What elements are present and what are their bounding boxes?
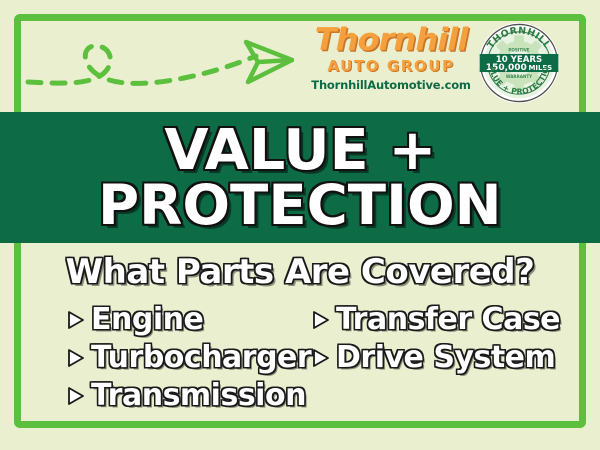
poster-canvas: Thornhill AUTO GROUP ThornhillAutomotive…	[0, 0, 600, 450]
dashed-arrow-icon	[24, 24, 294, 102]
list-item-label: Transmission	[91, 379, 306, 413]
coverage-column-left: Engine Turbocharger Transmission	[66, 301, 311, 415]
logo-subtitle: AUTO GROUP	[310, 58, 472, 75]
list-item-label: Transfer Case	[336, 303, 560, 337]
list-item-label: Drive System	[336, 341, 555, 375]
coverage-heading: What Parts Are Covered?	[0, 253, 600, 291]
seal-small-bottom-text: WARRANTY	[506, 74, 532, 79]
triangle-bullet-icon	[311, 347, 331, 369]
triangle-bullet-icon	[311, 309, 331, 331]
coverage-column-right: Transfer Case Drive System	[311, 301, 556, 415]
list-item-label: Turbocharger	[91, 341, 311, 375]
list-item: Transmission	[66, 377, 311, 415]
banner-line-2: PROTECTION	[98, 176, 502, 234]
coverage-columns: Engine Turbocharger Transmission	[0, 301, 600, 415]
warranty-seal-badge: THORNHILL POSITIVE 10 YEARS 150,000MILES…	[478, 22, 560, 104]
list-item-label: Engine	[91, 303, 203, 337]
banner-band: VALUE + PROTECTION	[0, 112, 600, 243]
list-item: Engine	[66, 301, 311, 339]
list-item: Transfer Case	[311, 301, 556, 339]
seal-small-top-text: POSITIVE	[508, 48, 529, 53]
banner-line-1: VALUE +	[164, 122, 436, 180]
triangle-bullet-icon	[66, 385, 86, 407]
logo-wordmark: Thornhill	[307, 24, 475, 56]
thornhill-logo[interactable]: Thornhill AUTO GROUP ThornhillAutomotive…	[310, 24, 472, 104]
triangle-bullet-icon	[66, 309, 86, 331]
logo-website-url: ThornhillAutomotive.com	[310, 78, 472, 92]
list-item: Drive System	[311, 339, 556, 377]
triangle-bullet-icon	[66, 347, 86, 369]
coverage-section: What Parts Are Covered? Engine Turbochar…	[0, 243, 600, 428]
list-item: Turbocharger	[66, 339, 311, 377]
header-section: Thornhill AUTO GROUP ThornhillAutomotive…	[0, 0, 600, 112]
